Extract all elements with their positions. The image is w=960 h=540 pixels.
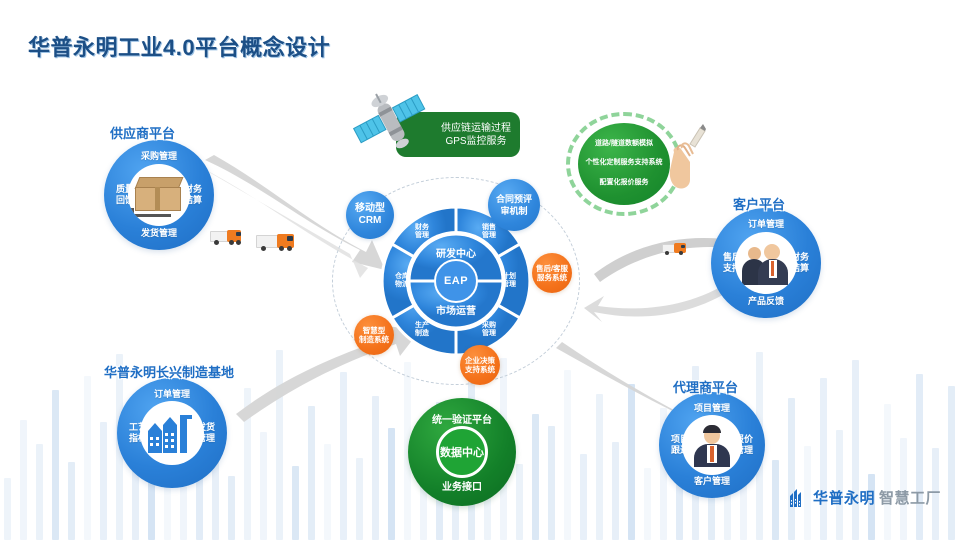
gps-service-text: 供应链运输过程 GPS监控服务 — [441, 122, 511, 148]
truck-icon — [210, 228, 244, 248]
supplier-platform[interactable]: 采购管理 质量 回馈 财务 结算 发货管理 — [104, 140, 214, 250]
customer-hub — [735, 232, 797, 294]
manufacturing-base[interactable]: 订单管理 工艺 指标 发货 管理 — [117, 378, 227, 488]
eap-hub-module: 财务 管理 销售 管理 计划 管理 采购 管理 生产 制造 仓库 物流 研发中心… — [332, 177, 580, 385]
base-label-top: 订单管理 — [117, 389, 227, 400]
cardboard-box-icon — [131, 173, 187, 217]
customer-platform-title: 客户平台 — [733, 194, 785, 213]
truck-icon — [256, 232, 296, 256]
footer-tagline: 智慧工厂 — [879, 487, 941, 508]
manufacturing-base-title: 华普永明长兴制造基地 — [104, 362, 234, 381]
data-center-module[interactable]: 统一验证平台 数据中心 业务接口 — [408, 398, 516, 506]
businessman-icon — [690, 423, 734, 467]
data-center-core[interactable]: 数据中心 — [436, 426, 488, 478]
footer-brand: 华普永明 — [813, 487, 875, 508]
eap-bubble-aftersales[interactable]: 售后/客服 服务系统 — [532, 253, 572, 293]
satellite-icon — [352, 88, 432, 160]
agent-platform-title: 代理商平台 — [673, 377, 738, 396]
supplier-hub — [128, 164, 190, 226]
customer-label-top: 订单管理 — [711, 219, 821, 230]
agent-label-bottom: 客户管理 — [659, 476, 765, 487]
eap-core[interactable]: EAP — [434, 259, 478, 303]
slide-canvas: 华普永明工业4.0平台概念设计 供应商平台 — [0, 0, 960, 540]
supplier-label-bottom: 发货管理 — [104, 228, 214, 239]
supplier-label-top: 采购管理 — [104, 151, 214, 162]
customer-label-bottom: 产品反馈 — [711, 296, 821, 307]
base-hub — [140, 401, 204, 465]
eap-bubble-smartmfg[interactable]: 智慧型 制造系统 — [354, 315, 394, 355]
customer-platform[interactable]: 订单管理 售后 支持 财务 结算 产品反馈 — [711, 208, 821, 318]
page-title: 华普永明工业4.0平台概念设计 — [28, 30, 330, 62]
company-logo-icon — [789, 488, 809, 508]
eap-bubble-crm[interactable]: 移动型 CRM — [346, 191, 394, 239]
two-people-icon — [742, 241, 790, 285]
agent-platform[interactable]: 项目管理 项目 跟进 报价 管理 客户管理 — [659, 392, 765, 498]
agent-hub — [682, 415, 742, 475]
supplier-platform-title: 供应商平台 — [110, 123, 175, 142]
factory-icon — [146, 411, 198, 455]
eap-bubble-decision[interactable]: 企业决策 支持系统 — [460, 345, 500, 385]
data-center-top-label: 统一验证平台 — [408, 411, 516, 426]
hand-pen-icon — [660, 122, 714, 194]
truck-icon — [662, 242, 688, 258]
footer-logo: 华普永明 智慧工厂 — [789, 487, 941, 508]
eap-bubble-contract[interactable]: 合同预评 审机制 — [488, 179, 540, 231]
data-center-bottom-label: 业务接口 — [408, 478, 516, 493]
agent-label-top: 项目管理 — [659, 403, 765, 414]
